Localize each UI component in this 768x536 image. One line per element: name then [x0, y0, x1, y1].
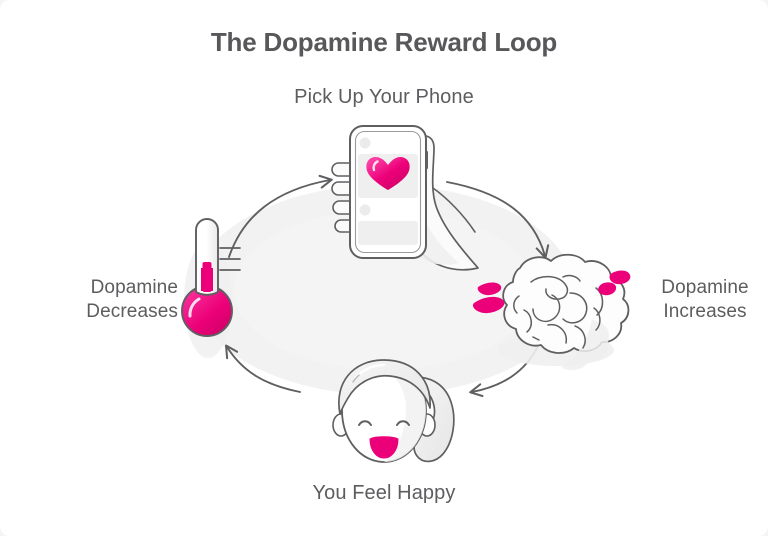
- feed-avatar-1: [360, 138, 371, 149]
- node-label-phone: Pick Up Your Phone: [0, 85, 768, 111]
- node-label-brain: Dopamine Increases: [630, 276, 768, 325]
- node-label-face: You Feel Happy: [0, 481, 768, 507]
- dopamine-loop-diagram: [0, 0, 768, 536]
- infographic-card: The Dopamine Reward Loop: [0, 0, 768, 536]
- feed-post-card-2: [358, 221, 418, 245]
- feed-avatar-2: [360, 205, 371, 216]
- node-label-thermometer: Dopamine Decreases: [18, 276, 178, 325]
